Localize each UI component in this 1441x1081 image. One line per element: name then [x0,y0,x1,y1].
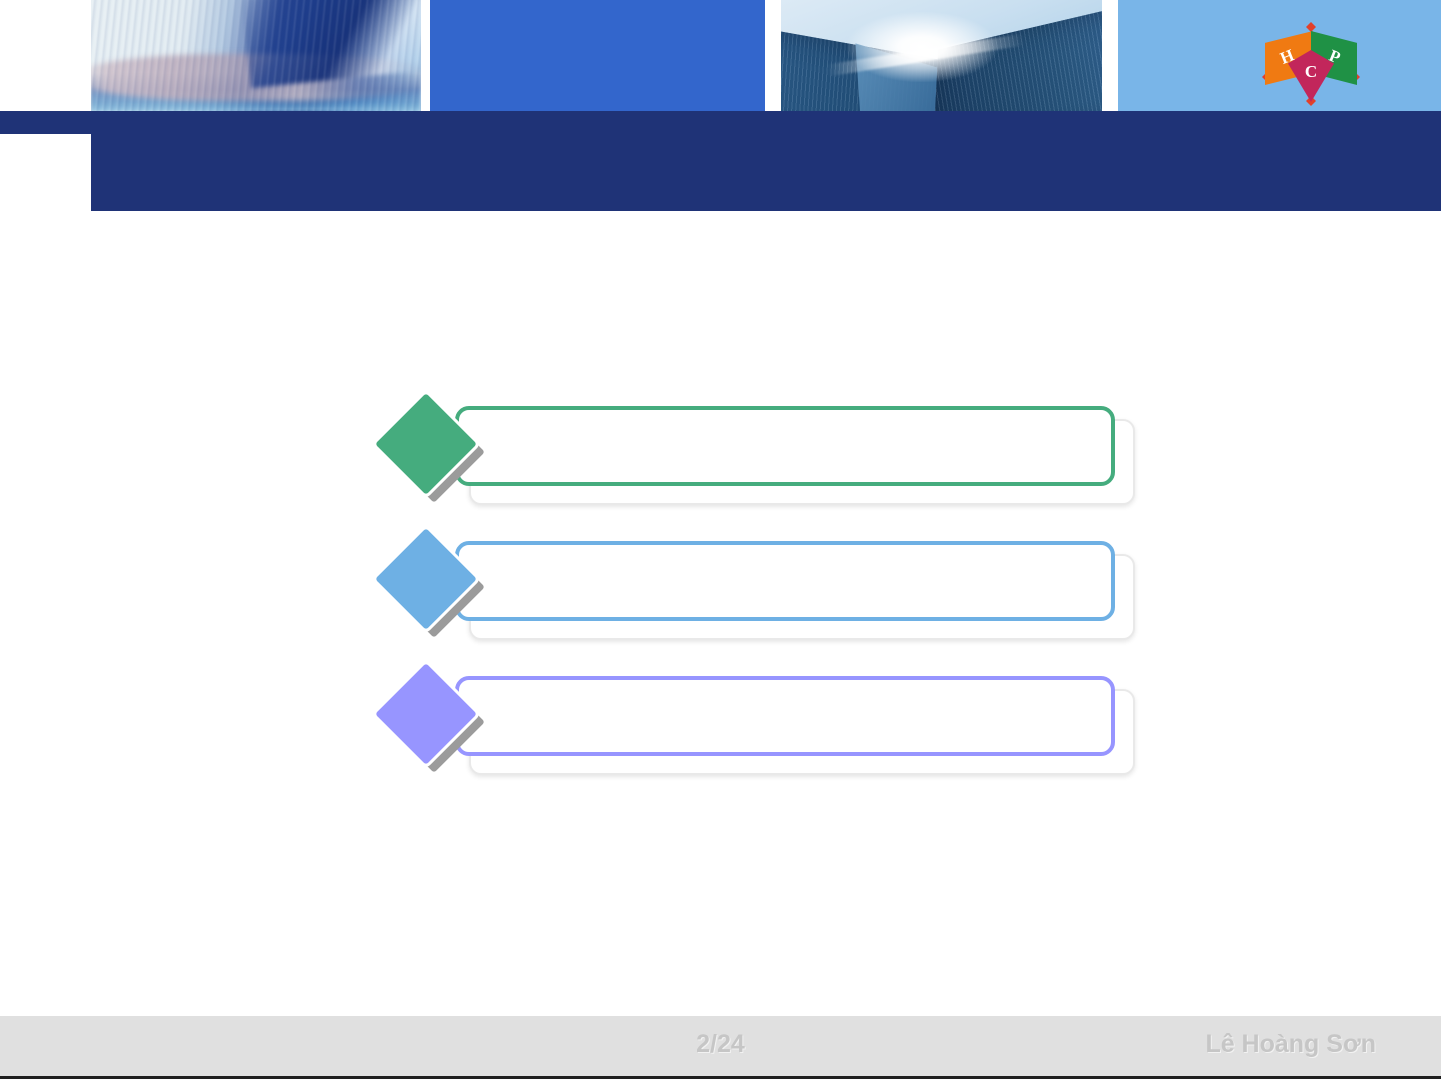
content-row-2-text-box[interactable] [455,541,1115,621]
cube-tip-top-icon [1306,22,1316,32]
banner-photo-keyboard [91,0,421,112]
content-row-1-text-box[interactable] [455,406,1115,486]
title-bar [91,111,1441,211]
slide-author-name: Lê Hoàng Sơn [1205,1030,1376,1059]
slide-content [0,212,1441,1012]
hpc-cube-logo-icon: H P C [1265,14,1357,102]
content-row-1 [0,394,1441,529]
content-row-3-text-box[interactable] [455,676,1115,756]
content-row-2 [0,529,1441,664]
banner-photo-skyscrapers [781,0,1102,112]
banner-image-strip: H P C [0,0,1441,112]
banner-solid-blue-block [430,0,765,112]
slide-footer: 2/24 Lê Hoàng Sơn [0,1016,1441,1079]
cube-face-c-letter: C [1305,62,1317,82]
skyscraper-photo-sun-flare [847,12,997,82]
keyboard-photo-motion-blur [91,0,421,112]
content-row-3 [0,664,1441,799]
